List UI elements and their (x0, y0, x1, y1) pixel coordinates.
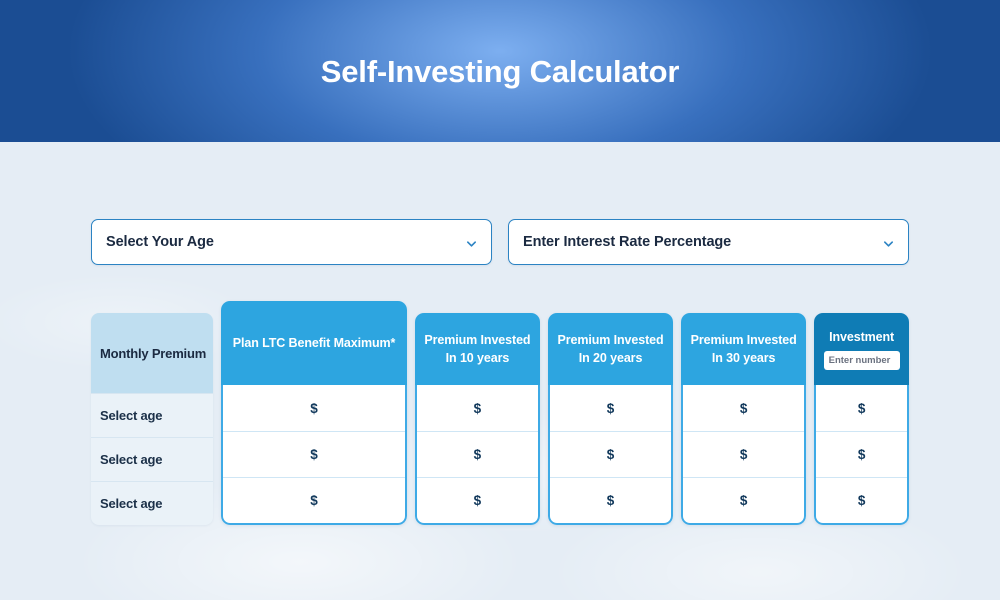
column-header-label: Premium Invested In 10 years (424, 331, 530, 367)
column-header-label: Plan LTC Benefit Maximum* (233, 334, 396, 352)
column-plan-ltc-benefit-maximum: Plan LTC Benefit Maximum* $ $ $ (221, 301, 407, 525)
column-header-investment: Investment (814, 313, 909, 385)
investment-amount-input[interactable] (824, 351, 900, 370)
column-body: $ $ $ (681, 385, 806, 525)
column-header-label: Premium Invested In 20 years (557, 331, 663, 367)
column-header-premium-10: Premium Invested In 10 years (415, 313, 540, 385)
column-header-line2: In 10 years (446, 351, 510, 365)
table-cell: $ (223, 431, 405, 477)
table-cell: $ (816, 477, 907, 523)
column-header-line2: In 30 years (712, 351, 776, 365)
table-cell: $ (550, 385, 671, 431)
calculator-table: Monthly Premium Select age Select age Se… (91, 293, 909, 525)
column-header-line1: Premium Invested (691, 333, 797, 347)
table-cell: $ (683, 477, 804, 523)
column-header-label: Monthly Premium (100, 346, 206, 361)
app-header: Self-Investing Calculator (0, 0, 1000, 142)
row-age-label: Select age (100, 452, 162, 467)
row-age-label: Select age (100, 408, 162, 423)
column-header-label: Investment (829, 328, 894, 346)
column-header-label: Premium Invested In 30 years (691, 331, 797, 367)
table-cell: $ (683, 431, 804, 477)
chevron-down-icon (466, 237, 477, 248)
column-header-line1: Premium Invested (557, 333, 663, 347)
table-cell: $ (550, 477, 671, 523)
page-title: Self-Investing Calculator (321, 54, 679, 90)
age-select-value: Select Your Age (106, 234, 214, 250)
table-row[interactable]: Select age (91, 437, 213, 481)
column-header-premium-30: Premium Invested In 30 years (681, 313, 806, 385)
column-premium-invested-30-years: Premium Invested In 30 years $ $ $ (681, 313, 806, 525)
column-header-line2: In 20 years (579, 351, 643, 365)
table-cell: $ (683, 385, 804, 431)
chevron-down-icon (883, 237, 894, 248)
table-cell: $ (417, 477, 538, 523)
column-header-plan-ltc: Plan LTC Benefit Maximum* (221, 301, 407, 385)
column-monthly-premium: Monthly Premium Select age Select age Se… (91, 313, 213, 525)
column-body: $ $ $ (415, 385, 540, 525)
column-header-monthly-premium: Monthly Premium (91, 313, 213, 393)
table-cell: $ (550, 431, 671, 477)
column-premium-invested-20-years: Premium Invested In 20 years $ $ $ (548, 313, 673, 525)
column-header-premium-20: Premium Invested In 20 years (548, 313, 673, 385)
row-age-label: Select age (100, 496, 162, 511)
column-body: $ $ $ (221, 385, 407, 525)
column-body: $ $ $ (814, 385, 909, 525)
filters-row: Select Your Age Enter Interest Rate Perc… (91, 219, 909, 265)
interest-rate-select[interactable]: Enter Interest Rate Percentage (508, 219, 909, 265)
table-cell: $ (816, 385, 907, 431)
age-select[interactable]: Select Your Age (91, 219, 492, 265)
column-header-line1: Premium Invested (424, 333, 530, 347)
table-cell: $ (223, 477, 405, 523)
column-investment: Investment $ $ $ (814, 313, 909, 525)
table-cell: $ (816, 431, 907, 477)
column-premium-invested-10-years: Premium Invested In 10 years $ $ $ (415, 313, 540, 525)
table-row[interactable]: Select age (91, 393, 213, 437)
table-cell: $ (223, 385, 405, 431)
interest-rate-select-value: Enter Interest Rate Percentage (523, 234, 731, 250)
table-row[interactable]: Select age (91, 481, 213, 525)
table-cell: $ (417, 385, 538, 431)
table-cell: $ (417, 431, 538, 477)
column-body: $ $ $ (548, 385, 673, 525)
